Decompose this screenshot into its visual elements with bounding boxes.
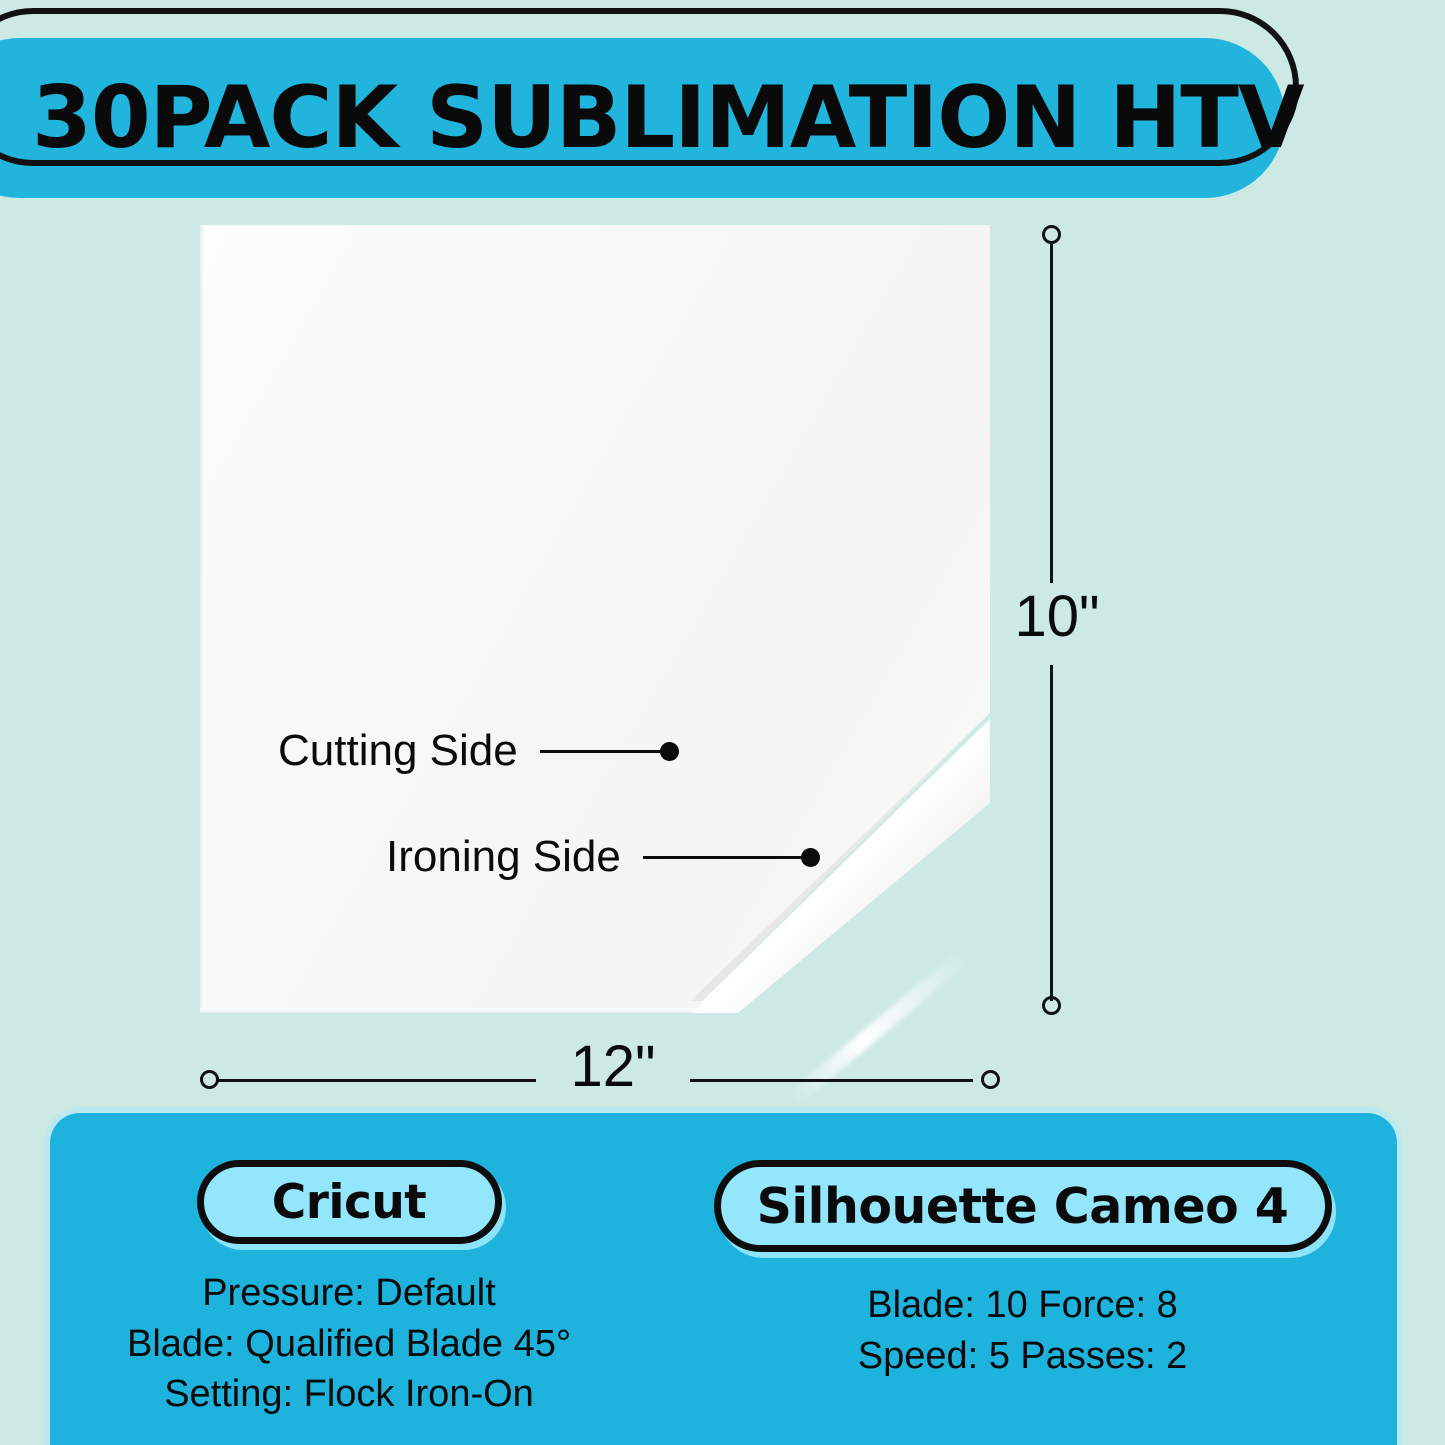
callout-endpoint-dot xyxy=(660,742,679,761)
dimension-width: 12" xyxy=(200,1068,1000,1092)
header-title: 30PACK SUBLIMATION HTV xyxy=(0,38,1230,198)
dimension-endpoint-circle xyxy=(200,1070,219,1089)
machine-specs-silhouette: Blade: 10 Force: 8 Speed: 5 Passes: 2 xyxy=(858,1280,1188,1381)
dimension-height-label: 10" xyxy=(997,583,1117,650)
callout-leader-line xyxy=(643,856,803,859)
dimension-endpoint-circle xyxy=(1042,996,1061,1015)
machine-column-cricut: Cricut Pressure: Default Blade: Qualifie… xyxy=(50,1113,648,1445)
dimension-endpoint-circle xyxy=(981,1070,1000,1089)
dimension-line-segment xyxy=(218,1079,536,1082)
dimension-width-label: 12" xyxy=(536,1033,690,1100)
machine-settings-panel: Cricut Pressure: Default Blade: Qualifie… xyxy=(50,1113,1397,1445)
spec-line: Speed: 5 Passes: 2 xyxy=(858,1331,1188,1382)
callout-ironing-side-label: Ironing Side xyxy=(386,832,621,882)
spec-line: Blade: 10 Force: 8 xyxy=(858,1280,1188,1331)
callout-cutting-side: Cutting Side xyxy=(278,726,679,776)
dimension-height: 10" xyxy=(1042,225,1044,1015)
callout-cutting-side-label: Cutting Side xyxy=(278,726,518,776)
dimension-line-segment xyxy=(1050,243,1053,583)
spec-line: Setting: Flock Iron-On xyxy=(127,1369,571,1420)
dimension-line-segment xyxy=(690,1079,973,1082)
spec-line: Pressure: Default xyxy=(127,1268,571,1319)
dimension-line-segment xyxy=(1050,665,1053,1001)
sheet-left-edge xyxy=(200,225,205,1013)
machine-name-label: Cricut xyxy=(272,1175,427,1230)
machine-column-silhouette: Silhouette Cameo 4 Blade: 10 Force: 8 Sp… xyxy=(648,1113,1397,1445)
callout-leader-line xyxy=(540,750,662,753)
machine-name-label: Silhouette Cameo 4 xyxy=(757,1178,1289,1235)
machine-specs-cricut: Pressure: Default Blade: Qualified Blade… xyxy=(127,1268,571,1420)
product-infographic: 30PACK SUBLIMATION HTV Cutting Side Iron… xyxy=(0,0,1445,1445)
dimension-endpoint-circle xyxy=(1042,225,1061,244)
vinyl-sheet xyxy=(200,225,990,1013)
callout-ironing-side: Ironing Side xyxy=(386,832,820,882)
header-banner: 30PACK SUBLIMATION HTV xyxy=(0,8,1310,203)
machine-name-pill-cricut: Cricut xyxy=(197,1160,502,1244)
spec-line: Blade: Qualified Blade 45° xyxy=(127,1319,571,1370)
machine-name-pill-silhouette: Silhouette Cameo 4 xyxy=(714,1160,1332,1252)
callout-endpoint-dot xyxy=(801,848,820,867)
